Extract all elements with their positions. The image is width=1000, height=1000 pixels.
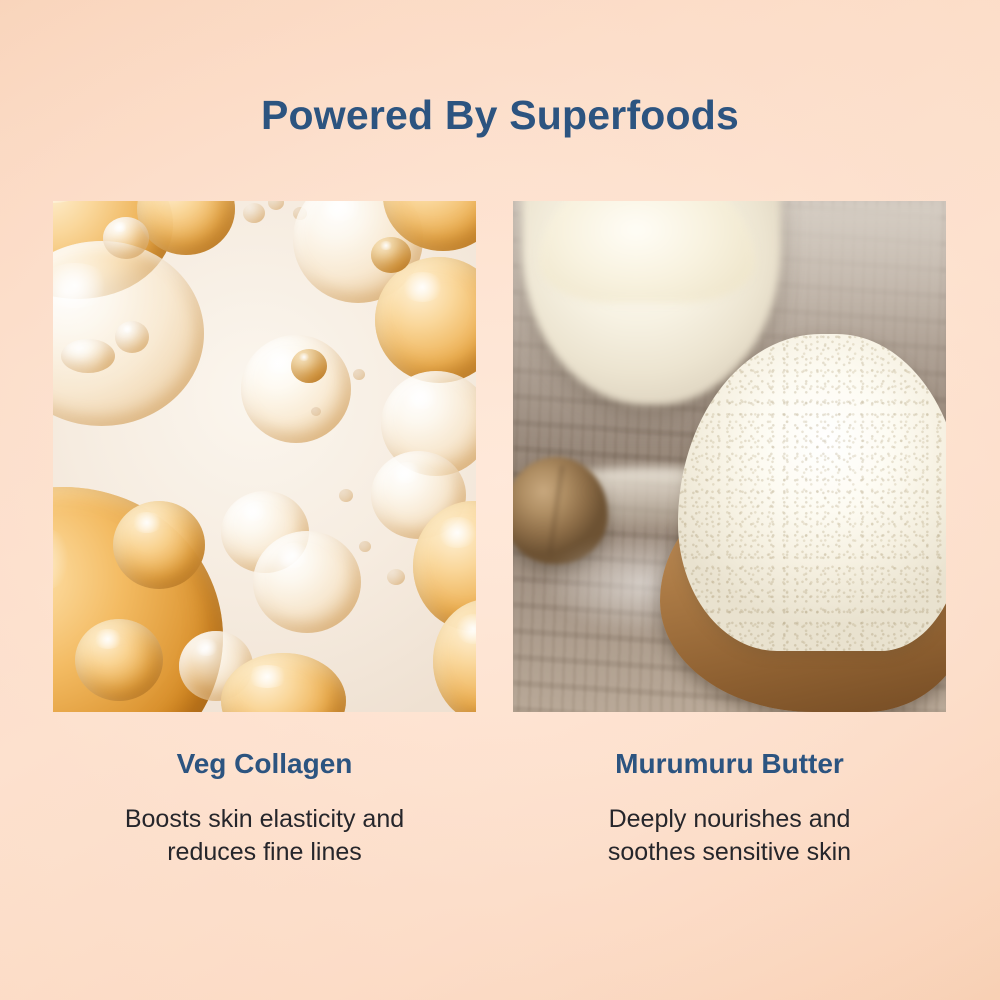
superfoods-poster: Powered By Superfoods [0, 0, 1000, 1000]
ingredient-description-line: reduces fine lines [53, 836, 476, 869]
oil-bubble [103, 217, 149, 259]
oil-bubble [359, 541, 371, 552]
ingredient-description-line: Boosts skin elasticity and [53, 803, 476, 836]
oil-bubble [113, 501, 205, 589]
oil-bubble [61, 339, 115, 373]
oil-bubble [291, 349, 327, 383]
oil-bubble [371, 237, 411, 273]
page-title: Powered By Superfoods [0, 93, 1000, 139]
oil-bubble [75, 619, 163, 701]
oil-bubble [311, 407, 321, 416]
murumuru-butter-photo [513, 201, 946, 712]
oil-bubble [253, 531, 361, 633]
ingredient-cards: Veg Collagen Boosts skin elasticity and … [53, 201, 946, 869]
ingredient-card-murumuru-butter: Murumuru Butter Deeply nourishes and soo… [513, 201, 946, 869]
ingredient-name: Murumuru Butter [513, 747, 946, 781]
veg-collagen-photo [53, 201, 476, 712]
ingredient-description-line: soothes sensitive skin [513, 836, 946, 869]
ingredient-description: Deeply nourishes and soothes sensitive s… [513, 803, 946, 869]
oil-bubble [353, 369, 365, 380]
oil-bubble [243, 203, 265, 223]
ingredient-card-veg-collagen: Veg Collagen Boosts skin elasticity and … [53, 201, 476, 869]
ingredient-name: Veg Collagen [53, 747, 476, 781]
oil-bubble [339, 489, 353, 502]
ingredient-description-line: Deeply nourishes and [513, 803, 946, 836]
bowl-butter [539, 201, 756, 303]
oil-bubble [241, 335, 351, 443]
murumuru-butter-caption: Murumuru Butter Deeply nourishes and soo… [513, 747, 946, 869]
veg-collagen-caption: Veg Collagen Boosts skin elasticity and … [53, 747, 476, 869]
oil-bubble [115, 321, 149, 353]
ingredient-description: Boosts skin elasticity and reduces fine … [53, 803, 476, 869]
oil-bubble [387, 569, 405, 585]
